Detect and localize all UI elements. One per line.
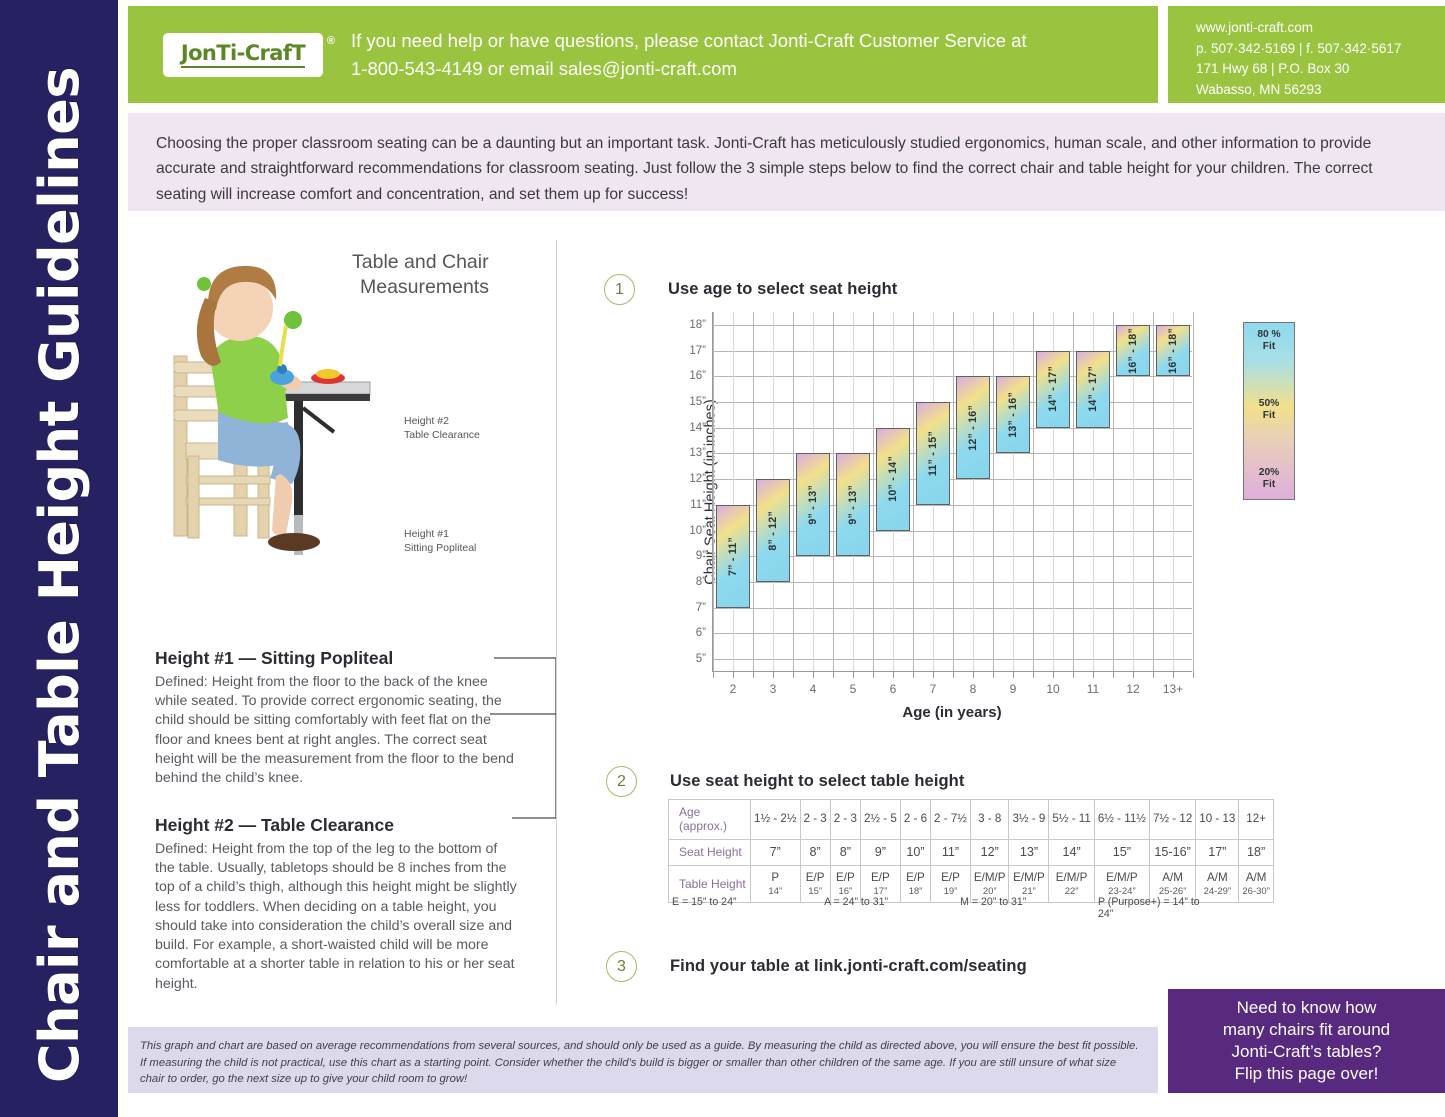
table-cell: 15-16”	[1149, 839, 1195, 865]
chart-y-tick-label: 11”	[690, 499, 706, 511]
chart-y-tick-label: 15”	[689, 396, 706, 408]
chart-x-tick-mark	[1153, 671, 1154, 678]
chart-x-tick-label: 12	[1126, 682, 1139, 696]
vertical-divider	[556, 240, 557, 1005]
chart-x-tick-mark	[1093, 671, 1094, 678]
chart-y-tick-label: 14”	[689, 422, 706, 434]
chart-x-tick-label: 4	[810, 682, 817, 696]
chart-x-tick-label: 7	[930, 682, 937, 696]
chart-gridline-vertical	[993, 312, 994, 671]
callout-height2-sub: Table Clearance	[404, 429, 480, 443]
seat-height-chart: Chair Seat Height (in inches) 5”6”7”8”9”…	[660, 312, 1220, 672]
table-cell: 10”	[900, 839, 930, 865]
chart-bar: 7” - 11”	[716, 505, 750, 608]
chart-bar: 12” - 16”	[956, 376, 990, 479]
header-help-message: If you need help or have questions, plea…	[351, 27, 1027, 83]
chart-bar-label: 9” - 13”	[847, 485, 859, 525]
chart-x-tick-label: 3	[770, 682, 777, 696]
chart-x-tick-mark	[1173, 671, 1174, 678]
chart-x-tick-mark	[853, 671, 854, 678]
table-cell: 12+	[1239, 800, 1273, 840]
table-cell: 11”	[931, 839, 971, 865]
chart-y-tick-label: 7”	[696, 602, 706, 614]
chart-x-tick-mark	[773, 671, 774, 678]
chart-bar-label: 16” - 18”	[1127, 328, 1139, 374]
chart-bar-label: 11” - 15”	[927, 431, 939, 476]
table-row-header: Age (approx.)	[669, 800, 751, 840]
chart-x-tick-label: 8	[970, 682, 977, 696]
table-cell: 7½ - 12	[1149, 800, 1195, 840]
chart-y-tick-label: 9”	[696, 550, 706, 562]
intro-banner: Choosing the proper classroom seating ca…	[128, 113, 1445, 211]
chart-x-tick-label: 9	[1010, 682, 1017, 696]
step-2: 2 Use seat height to select table height	[606, 766, 964, 797]
chart-gridline-vertical	[873, 312, 874, 671]
table-cell: 5½ - 11	[1049, 800, 1094, 840]
chart-bar-label: 14” - 17”	[1047, 366, 1059, 412]
table-cell: 8”	[800, 839, 830, 865]
chart-bar: 16” - 18”	[1116, 325, 1150, 376]
chart-gridline-vertical-minor	[1013, 312, 1014, 671]
table-note: E = 15” to 24”	[672, 896, 824, 920]
table-row: Seat Height7”8”8”9”10”11”12”13”14”15”15-…	[669, 839, 1274, 865]
chart-y-tick-label: 13”	[689, 447, 706, 459]
step-3-number: 3	[606, 951, 637, 982]
chart-y-tick-label: 5”	[696, 653, 706, 665]
table-cell: 7”	[751, 839, 801, 865]
chart-y-tick-label: 16”	[689, 370, 706, 382]
chart-x-tick-mark	[893, 671, 894, 678]
fit-legend-percent: 80 %	[1257, 329, 1280, 340]
header-help-line2: 1-800-543-4149 or email sales@jonti-craf…	[351, 55, 1027, 83]
chart-gridline-vertical	[1073, 312, 1074, 671]
table-cell: 17”	[1196, 839, 1239, 865]
header-contact-block: www.jonti-craft.com p. 507·342·5169 | f.…	[1168, 6, 1445, 103]
flip-page-callout: Need to know how many chairs fit around …	[1168, 989, 1445, 1093]
table-cell: 18”	[1239, 839, 1273, 865]
chart-plot-area: 5”6”7”8”9”10”11”12”13”14”15”16”17”18”234…	[712, 312, 1192, 672]
chart-gridline-vertical-minor	[733, 312, 734, 671]
chart-bar-label: 7” - 11”	[727, 537, 739, 576]
table-cell: 14”	[1049, 839, 1094, 865]
callout-height2-title: Height #2	[404, 415, 480, 429]
step-2-label: Use seat height to select table height	[670, 772, 964, 791]
table-note: M = 20” to 31”	[960, 896, 1098, 920]
chart-x-tick-label: 10	[1046, 682, 1059, 696]
footer-disclaimer-banner: This graph and chart are based on averag…	[128, 1027, 1158, 1093]
chart-bar: 9” - 13”	[836, 453, 870, 556]
chart-x-tick-mark	[1033, 671, 1034, 678]
chart-x-tick-mark	[833, 671, 834, 678]
table-legend-notes: E = 15” to 24”A = 24” to 31”M = 20” to 3…	[672, 896, 1212, 920]
chart-x-tick-mark	[713, 671, 714, 678]
fit-legend-entry: 80 %Fit	[1244, 329, 1294, 353]
chart-x-tick-mark	[913, 671, 914, 678]
table-cell: 8”	[830, 839, 860, 865]
callout-height1-title: Height #1	[404, 528, 476, 542]
callout-height2: Height #2 Table Clearance	[404, 415, 480, 443]
chart-bar-label: 14” - 17”	[1087, 366, 1099, 412]
child-seated-photo	[158, 236, 373, 581]
chart-x-tick-mark	[1053, 671, 1054, 678]
chart-x-tick-mark	[1193, 671, 1194, 678]
chart-x-tick-mark	[813, 671, 814, 678]
chart-x-tick-mark	[993, 671, 994, 678]
chart-x-tick-mark	[973, 671, 974, 678]
page-title: Chair and Table Height Guidelines	[0, 0, 118, 1117]
table-cell: 15”	[1094, 839, 1149, 865]
table-cell: 3 - 8	[970, 800, 1009, 840]
measurements-title-line1: Table and Chair	[352, 251, 489, 273]
chart-gridline-vertical	[793, 312, 794, 671]
seat-to-table-height-table: Age (approx.)1½ - 2½2 - 32 - 32½ - 52 - …	[668, 799, 1274, 903]
callout-height1-sub: Sitting Popliteal	[404, 542, 476, 556]
chart-gridline-vertical	[753, 312, 754, 671]
contact-address-line1: 171 Hwy 68 | P.O. Box 30	[1196, 59, 1445, 80]
chart-bar-label: 16” - 18”	[1167, 328, 1179, 374]
chart-x-tick-mark	[793, 671, 794, 678]
measurements-title: Table and Chair Measurements	[352, 250, 489, 300]
chart-bar: 16” - 18”	[1156, 325, 1190, 376]
chart-x-tick-label: 6	[890, 682, 897, 696]
chart-bar-label: 10” - 14”	[887, 456, 899, 502]
table-cell: 12”	[970, 839, 1009, 865]
section-height1: Height #1 — Sitting Popliteal Defined: H…	[155, 648, 515, 788]
table-cell: 2 - 3	[800, 800, 830, 840]
measurements-title-line2: Measurements	[352, 275, 489, 300]
table-note: P (Purpose+) = 14” to 24”	[1098, 896, 1212, 920]
table-cell: 13”	[1009, 839, 1049, 865]
step-2-number: 2	[606, 766, 637, 797]
chart-x-tick-label: 5	[850, 682, 857, 696]
fit-legend-word: Fit	[1263, 341, 1275, 352]
page-root: Chair and Table Height Guidelines JonTi-…	[0, 0, 1445, 1117]
chart-x-tick-mark	[1133, 671, 1134, 678]
header-help-line1: If you need help or have questions, plea…	[351, 27, 1027, 55]
step-3: 3 Find your table at link.jonti-craft.co…	[606, 951, 1027, 982]
flip-line-4: Flip this page over!	[1223, 1063, 1390, 1085]
table-cell-sub: 26-30”	[1242, 886, 1269, 897]
chart-bar: 10” - 14”	[876, 428, 910, 531]
step-1-label: Use age to select seat height	[668, 280, 897, 299]
table-cell: 2½ - 5	[860, 800, 900, 840]
chart-bar: 14” - 17”	[1076, 351, 1110, 428]
jonti-craft-logo: JonTi-CrafT ®	[163, 33, 323, 77]
chart-y-tick-label: 18”	[689, 319, 706, 331]
chart-bar: 14” - 17”	[1036, 351, 1070, 428]
flip-line-1: Need to know how	[1223, 997, 1390, 1019]
flip-line-3: Jonti-Craft’s tables?	[1223, 1041, 1390, 1063]
fit-legend-entry: 20%Fit	[1244, 467, 1294, 491]
contact-address-line2: Wabasso, MN 56293	[1196, 80, 1445, 101]
fit-legend-entry: 50%Fit	[1244, 398, 1294, 422]
flip-line-2: many chairs fit around	[1223, 1019, 1390, 1041]
table-cell: 9”	[860, 839, 900, 865]
contact-phones: p. 507·342·5169 | f. 507·342·5617	[1196, 39, 1445, 60]
section-height2-body: Defined: Height from the top of the leg …	[155, 840, 520, 994]
header-banner: JonTi-CrafT ® If you need help or have q…	[128, 6, 1158, 103]
table-row-header: Seat Height	[669, 839, 751, 865]
chart-gridline-vertical	[1153, 312, 1154, 671]
fit-legend-percent: 20%	[1259, 467, 1279, 478]
step-1: 1 Use age to select seat height	[604, 274, 897, 305]
chart-gridline-vertical	[1033, 312, 1034, 671]
chart-x-tick-mark	[953, 671, 954, 678]
callout-height1: Height #1 Sitting Popliteal	[404, 528, 476, 556]
table-cell: 6½ - 11½	[1094, 800, 1149, 840]
chart-gridline-vertical-minor	[973, 312, 974, 671]
table-cell: 2 - 6	[900, 800, 930, 840]
chart-gridline-vertical	[713, 312, 714, 671]
table-row: Age (approx.)1½ - 2½2 - 32 - 32½ - 52 - …	[669, 800, 1274, 840]
table-cell: 2 - 7½	[931, 800, 971, 840]
chart-bar: 13” - 16”	[996, 376, 1030, 453]
section-height2: Height #2 — Table Clearance Defined: Hei…	[155, 815, 520, 994]
chart-x-tick-mark	[1073, 671, 1074, 678]
section-height1-heading: Height #1 — Sitting Popliteal	[155, 648, 515, 669]
chart-x-tick-label: 11	[1087, 682, 1099, 696]
chart-bar-label: 13” - 16”	[1007, 392, 1019, 438]
logo-wordmark: JonTi-CrafT	[181, 41, 305, 68]
table-cell: A/M26-30”	[1239, 865, 1273, 902]
child-chair-table-illustration	[158, 236, 373, 581]
sidebar-spine: Chair and Table Height Guidelines	[0, 0, 118, 1117]
chart-x-tick-mark	[733, 671, 734, 678]
chart-y-tick-label: 8”	[696, 576, 706, 588]
chart-x-tick-mark	[1113, 671, 1114, 678]
chart-y-tick-label: 10”	[689, 525, 706, 537]
chart-x-tick-mark	[1013, 671, 1014, 678]
intro-paragraph: Choosing the proper classroom seating ca…	[156, 131, 1415, 207]
chart-bar-label: 12” - 16”	[967, 405, 979, 451]
chart-bar: 9” - 13”	[796, 453, 830, 556]
chart-x-tick-label: 2	[730, 682, 737, 696]
chart-gridline-vertical	[913, 312, 914, 671]
chart-x-tick-mark	[873, 671, 874, 678]
section-height2-heading: Height #2 — Table Clearance	[155, 815, 520, 836]
table-cell: 3½ - 9	[1009, 800, 1049, 840]
chart-y-tick-label: 12”	[689, 473, 706, 485]
step-3-label[interactable]: Find your table at link.jonti-craft.com/…	[670, 957, 1027, 976]
chart-y-tick-label: 17”	[689, 345, 706, 357]
footer-disclaimer-text: This graph and chart are based on averag…	[140, 1038, 1140, 1088]
chart-x-tick-mark	[753, 671, 754, 678]
chart-bar: 8” - 12”	[756, 479, 790, 582]
section-height1-body: Defined: Height from the floor to the ba…	[155, 673, 515, 788]
chart-gridline-vertical	[1113, 312, 1114, 671]
chart-bar: 11” - 15”	[916, 402, 950, 505]
registered-trademark-icon: ®	[327, 35, 335, 47]
fit-legend-word: Fit	[1263, 410, 1275, 421]
chart-gridline-vertical	[833, 312, 834, 671]
table-note: A = 24” to 31”	[824, 896, 960, 920]
chart-fit-legend: 80 %Fit50%Fit20%Fit	[1243, 322, 1295, 500]
chart-bar-label: 9” - 13”	[807, 485, 819, 525]
chart-x-tick-mark	[933, 671, 934, 678]
chart-gridline-vertical	[953, 312, 954, 671]
fit-legend-percent: 50%	[1259, 398, 1279, 409]
chart-gridline-vertical	[1193, 312, 1194, 671]
chart-y-tick-label: 6”	[696, 627, 706, 639]
table-cell: 2 - 3	[830, 800, 860, 840]
contact-website[interactable]: www.jonti-craft.com	[1196, 18, 1445, 39]
fit-legend-word: Fit	[1263, 479, 1275, 490]
chart-x-axis-label: Age (in years)	[712, 704, 1192, 721]
table-cell: 10 - 13	[1196, 800, 1239, 840]
chart-bar-label: 8” - 12”	[767, 511, 779, 551]
chart-x-tick-label: 13+	[1163, 682, 1183, 696]
step-1-number: 1	[604, 274, 635, 305]
table-cell: 1½ - 2½	[751, 800, 801, 840]
